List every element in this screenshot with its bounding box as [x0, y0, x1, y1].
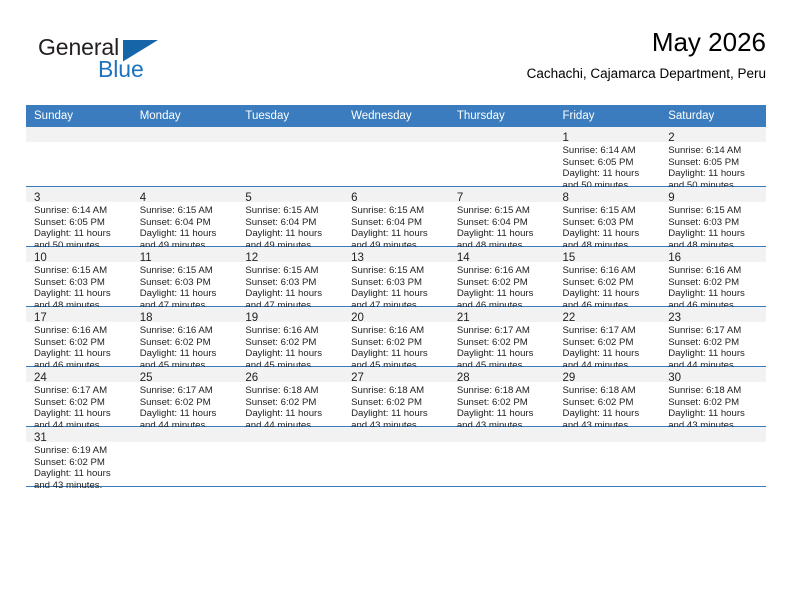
day-number: 24 [34, 372, 47, 384]
calendar-day-cell[interactable]: 12Sunrise: 6:15 AMSunset: 6:03 PMDayligh… [237, 247, 343, 307]
day-number: 3 [34, 192, 40, 204]
day-details: Sunrise: 6:14 AMSunset: 6:05 PMDaylight:… [26, 202, 132, 251]
day-number: 8 [563, 192, 569, 204]
day-number: 17 [34, 312, 47, 324]
calendar-day-cell[interactable]: 9Sunrise: 6:15 AMSunset: 6:03 PMDaylight… [660, 187, 766, 247]
daylight-text: Daylight: 11 hours [563, 168, 657, 180]
day-details: Sunrise: 6:15 AMSunset: 6:03 PMDaylight:… [343, 262, 449, 311]
calendar-empty-cell [449, 127, 555, 187]
sunset-text: Sunset: 6:03 PM [668, 217, 762, 229]
sunset-text: Sunset: 6:04 PM [457, 217, 551, 229]
sunrise-text: Sunrise: 6:14 AM [34, 205, 128, 217]
calendar-day-cell[interactable]: 7Sunrise: 6:15 AMSunset: 6:04 PMDaylight… [449, 187, 555, 247]
day-number-band [26, 127, 132, 142]
calendar-day-cell[interactable]: 25Sunrise: 6:17 AMSunset: 6:02 PMDayligh… [132, 367, 238, 427]
day-cell-inner [449, 427, 555, 486]
daylight-text: Daylight: 11 hours [563, 348, 657, 360]
day-details: Sunrise: 6:17 AMSunset: 6:02 PMDaylight:… [449, 322, 555, 371]
daylight-text: Daylight: 11 hours [351, 348, 445, 360]
weekday-header-sunday: Sunday [26, 105, 132, 127]
day-details: Sunrise: 6:15 AMSunset: 6:03 PMDaylight:… [26, 262, 132, 311]
sunrise-text: Sunrise: 6:17 AM [668, 325, 762, 337]
calendar-day-cell[interactable]: 27Sunrise: 6:18 AMSunset: 6:02 PMDayligh… [343, 367, 449, 427]
page-title: May 2026 [527, 26, 766, 58]
day-number: 31 [34, 432, 47, 444]
day-number: 26 [245, 372, 258, 384]
day-cell-inner: 13Sunrise: 6:15 AMSunset: 6:03 PMDayligh… [343, 247, 449, 306]
day-details: Sunrise: 6:18 AMSunset: 6:02 PMDaylight:… [343, 382, 449, 431]
day-details: Sunrise: 6:17 AMSunset: 6:02 PMDaylight:… [132, 382, 238, 431]
weekday-header-friday: Friday [555, 105, 661, 127]
day-number-band: 28 [449, 367, 555, 382]
day-number: 4 [140, 192, 146, 204]
day-number-band [132, 127, 238, 142]
day-number-band [343, 127, 449, 142]
sunrise-text: Sunrise: 6:18 AM [668, 385, 762, 397]
day-number-band: 31 [26, 427, 132, 442]
weekday-header-thursday: Thursday [449, 105, 555, 127]
day-cell-inner: 7Sunrise: 6:15 AMSunset: 6:04 PMDaylight… [449, 187, 555, 246]
calendar-day-cell[interactable]: 30Sunrise: 6:18 AMSunset: 6:02 PMDayligh… [660, 367, 766, 427]
sunset-text: Sunset: 6:02 PM [668, 337, 762, 349]
day-number-band: 26 [237, 367, 343, 382]
day-details: Sunrise: 6:18 AMSunset: 6:02 PMDaylight:… [660, 382, 766, 431]
sunrise-text: Sunrise: 6:18 AM [245, 385, 339, 397]
day-number-band [449, 127, 555, 142]
sunrise-text: Sunrise: 6:16 AM [351, 325, 445, 337]
day-number-band [449, 427, 555, 442]
calendar-empty-cell [343, 127, 449, 187]
day-number: 2 [668, 132, 674, 144]
sunrise-text: Sunrise: 6:15 AM [668, 205, 762, 217]
sunrise-text: Sunrise: 6:17 AM [140, 385, 234, 397]
sunrise-text: Sunrise: 6:15 AM [245, 265, 339, 277]
sunrise-text: Sunrise: 6:16 AM [563, 265, 657, 277]
day-details: Sunrise: 6:16 AMSunset: 6:02 PMDaylight:… [449, 262, 555, 311]
day-cell-inner [660, 427, 766, 486]
day-number-band: 18 [132, 307, 238, 322]
weekday-header-row: Sunday Monday Tuesday Wednesday Thursday… [26, 105, 766, 127]
title-block: May 2026 Cachachi, Cajamarca Department,… [527, 26, 766, 84]
day-number-band: 1 [555, 127, 661, 142]
day-number-band: 25 [132, 367, 238, 382]
sunset-text: Sunset: 6:02 PM [140, 337, 234, 349]
day-cell-inner: 15Sunrise: 6:16 AMSunset: 6:02 PMDayligh… [555, 247, 661, 306]
sunrise-text: Sunrise: 6:15 AM [457, 205, 551, 217]
day-number-band [237, 127, 343, 142]
day-details: Sunrise: 6:15 AMSunset: 6:03 PMDaylight:… [237, 262, 343, 311]
calendar-day-cell[interactable]: 4Sunrise: 6:15 AMSunset: 6:04 PMDaylight… [132, 187, 238, 247]
day-details: Sunrise: 6:17 AMSunset: 6:02 PMDaylight:… [660, 322, 766, 371]
day-number: 1 [563, 132, 569, 144]
day-cell-inner [343, 127, 449, 186]
calendar-day-cell[interactable]: 28Sunrise: 6:18 AMSunset: 6:02 PMDayligh… [449, 367, 555, 427]
day-number: 23 [668, 312, 681, 324]
sunset-text: Sunset: 6:03 PM [245, 277, 339, 289]
daylight-text: Daylight: 11 hours [457, 408, 551, 420]
calendar-empty-cell [449, 427, 555, 487]
day-cell-inner [343, 427, 449, 486]
calendar-week-row: 17Sunrise: 6:16 AMSunset: 6:02 PMDayligh… [26, 307, 766, 367]
daylight-text: Daylight: 11 hours [668, 168, 762, 180]
day-details: Sunrise: 6:17 AMSunset: 6:02 PMDaylight:… [555, 322, 661, 371]
day-cell-inner: 6Sunrise: 6:15 AMSunset: 6:04 PMDaylight… [343, 187, 449, 246]
sunrise-text: Sunrise: 6:18 AM [351, 385, 445, 397]
day-cell-inner: 20Sunrise: 6:16 AMSunset: 6:02 PMDayligh… [343, 307, 449, 366]
calendar-week-row: 24Sunrise: 6:17 AMSunset: 6:02 PMDayligh… [26, 367, 766, 427]
calendar-day-cell[interactable]: 18Sunrise: 6:16 AMSunset: 6:02 PMDayligh… [132, 307, 238, 367]
calendar-empty-cell [26, 127, 132, 187]
day-number-band: 9 [660, 187, 766, 202]
sunset-text: Sunset: 6:05 PM [563, 157, 657, 169]
day-cell-inner: 3Sunrise: 6:14 AMSunset: 6:05 PMDaylight… [26, 187, 132, 246]
day-number: 16 [668, 252, 681, 264]
sunrise-text: Sunrise: 6:15 AM [351, 205, 445, 217]
day-number-band: 22 [555, 307, 661, 322]
calendar-day-cell[interactable]: 13Sunrise: 6:15 AMSunset: 6:03 PMDayligh… [343, 247, 449, 307]
daylight-text: Daylight: 11 hours [457, 288, 551, 300]
sunrise-text: Sunrise: 6:15 AM [140, 205, 234, 217]
sunrise-text: Sunrise: 6:16 AM [34, 325, 128, 337]
calendar-day-cell[interactable]: 5Sunrise: 6:15 AMSunset: 6:04 PMDaylight… [237, 187, 343, 247]
day-number-band: 16 [660, 247, 766, 262]
day-cell-inner: 21Sunrise: 6:17 AMSunset: 6:02 PMDayligh… [449, 307, 555, 366]
day-number: 15 [563, 252, 576, 264]
general-blue-logo[interactable]: General Blue [38, 32, 218, 88]
day-number-band: 29 [555, 367, 661, 382]
day-cell-inner [237, 427, 343, 486]
calendar-day-cell[interactable]: 15Sunrise: 6:16 AMSunset: 6:02 PMDayligh… [555, 247, 661, 307]
calendar-day-cell[interactable]: 14Sunrise: 6:16 AMSunset: 6:02 PMDayligh… [449, 247, 555, 307]
sunset-text: Sunset: 6:02 PM [457, 277, 551, 289]
calendar-day-cell[interactable]: 19Sunrise: 6:16 AMSunset: 6:02 PMDayligh… [237, 307, 343, 367]
sunrise-sunset-calendar: Sunday Monday Tuesday Wednesday Thursday… [26, 105, 766, 487]
sunrise-text: Sunrise: 6:17 AM [457, 325, 551, 337]
day-number-band [660, 427, 766, 442]
day-details: Sunrise: 6:15 AMSunset: 6:04 PMDaylight:… [343, 202, 449, 251]
sunset-text: Sunset: 6:03 PM [34, 277, 128, 289]
day-number-band [132, 427, 238, 442]
day-details: Sunrise: 6:16 AMSunset: 6:02 PMDaylight:… [132, 322, 238, 371]
day-cell-inner [26, 127, 132, 186]
day-details: Sunrise: 6:18 AMSunset: 6:02 PMDaylight:… [449, 382, 555, 431]
day-cell-inner: 2Sunrise: 6:14 AMSunset: 6:05 PMDaylight… [660, 127, 766, 186]
day-number-band: 7 [449, 187, 555, 202]
calendar-day-cell[interactable]: 2Sunrise: 6:14 AMSunset: 6:05 PMDaylight… [660, 127, 766, 187]
daylight-text: Daylight: 11 hours [351, 408, 445, 420]
day-number: 28 [457, 372, 470, 384]
day-details: Sunrise: 6:16 AMSunset: 6:02 PMDaylight:… [237, 322, 343, 371]
day-cell-inner: 17Sunrise: 6:16 AMSunset: 6:02 PMDayligh… [26, 307, 132, 366]
day-number-band: 21 [449, 307, 555, 322]
day-number-band: 5 [237, 187, 343, 202]
day-number-band: 2 [660, 127, 766, 142]
sunset-text: Sunset: 6:04 PM [351, 217, 445, 229]
sunrise-text: Sunrise: 6:16 AM [245, 325, 339, 337]
weekday-header-tuesday: Tuesday [237, 105, 343, 127]
day-number-band: 11 [132, 247, 238, 262]
day-number: 25 [140, 372, 153, 384]
sunrise-text: Sunrise: 6:17 AM [34, 385, 128, 397]
day-cell-inner: 31Sunrise: 6:19 AMSunset: 6:02 PMDayligh… [26, 427, 132, 486]
calendar-day-cell[interactable]: 10Sunrise: 6:15 AMSunset: 6:03 PMDayligh… [26, 247, 132, 307]
day-number-band: 4 [132, 187, 238, 202]
calendar-week-row: 1Sunrise: 6:14 AMSunset: 6:05 PMDaylight… [26, 127, 766, 187]
daylight-text: Daylight: 11 hours [563, 228, 657, 240]
day-number-band: 13 [343, 247, 449, 262]
sunrise-text: Sunrise: 6:18 AM [563, 385, 657, 397]
daylight-text: Daylight: 11 hours [34, 228, 128, 240]
sunrise-text: Sunrise: 6:18 AM [457, 385, 551, 397]
day-cell-inner: 28Sunrise: 6:18 AMSunset: 6:02 PMDayligh… [449, 367, 555, 426]
day-cell-inner: 5Sunrise: 6:15 AMSunset: 6:04 PMDaylight… [237, 187, 343, 246]
day-number: 19 [245, 312, 258, 324]
day-cell-inner: 19Sunrise: 6:16 AMSunset: 6:02 PMDayligh… [237, 307, 343, 366]
calendar-day-cell[interactable]: 1Sunrise: 6:14 AMSunset: 6:05 PMDaylight… [555, 127, 661, 187]
day-number: 7 [457, 192, 463, 204]
day-details: Sunrise: 6:15 AMSunset: 6:04 PMDaylight:… [449, 202, 555, 251]
sunrise-text: Sunrise: 6:15 AM [34, 265, 128, 277]
daylight-text: Daylight: 11 hours [563, 288, 657, 300]
sunset-text: Sunset: 6:02 PM [34, 337, 128, 349]
day-number: 13 [351, 252, 364, 264]
daylight-text: Daylight: 11 hours [245, 288, 339, 300]
day-cell-inner: 30Sunrise: 6:18 AMSunset: 6:02 PMDayligh… [660, 367, 766, 426]
day-number-band: 24 [26, 367, 132, 382]
weekday-header-wednesday: Wednesday [343, 105, 449, 127]
calendar-empty-cell [555, 427, 661, 487]
sunset-text: Sunset: 6:02 PM [668, 277, 762, 289]
calendar-day-cell[interactable]: 24Sunrise: 6:17 AMSunset: 6:02 PMDayligh… [26, 367, 132, 427]
calendar-day-cell[interactable]: 11Sunrise: 6:15 AMSunset: 6:03 PMDayligh… [132, 247, 238, 307]
day-number-band: 14 [449, 247, 555, 262]
day-number: 14 [457, 252, 470, 264]
day-number-band: 19 [237, 307, 343, 322]
sunrise-text: Sunrise: 6:19 AM [34, 445, 128, 457]
day-details: Sunrise: 6:18 AMSunset: 6:02 PMDaylight:… [237, 382, 343, 431]
day-number-band: 30 [660, 367, 766, 382]
day-details: Sunrise: 6:15 AMSunset: 6:03 PMDaylight:… [555, 202, 661, 251]
daylight-text: Daylight: 11 hours [351, 288, 445, 300]
day-number-band [555, 427, 661, 442]
day-number-band: 23 [660, 307, 766, 322]
day-cell-inner: 8Sunrise: 6:15 AMSunset: 6:03 PMDaylight… [555, 187, 661, 246]
sunset-text: Sunset: 6:02 PM [457, 397, 551, 409]
day-cell-inner: 14Sunrise: 6:16 AMSunset: 6:02 PMDayligh… [449, 247, 555, 306]
daylight-text: Daylight: 11 hours [245, 228, 339, 240]
day-cell-inner: 24Sunrise: 6:17 AMSunset: 6:02 PMDayligh… [26, 367, 132, 426]
day-cell-inner: 1Sunrise: 6:14 AMSunset: 6:05 PMDaylight… [555, 127, 661, 186]
day-cell-inner: 18Sunrise: 6:16 AMSunset: 6:02 PMDayligh… [132, 307, 238, 366]
calendar-week-row: 31Sunrise: 6:19 AMSunset: 6:02 PMDayligh… [26, 427, 766, 487]
sunset-text: Sunset: 6:02 PM [351, 397, 445, 409]
day-cell-inner: 29Sunrise: 6:18 AMSunset: 6:02 PMDayligh… [555, 367, 661, 426]
day-cell-inner: 25Sunrise: 6:17 AMSunset: 6:02 PMDayligh… [132, 367, 238, 426]
day-number-band: 8 [555, 187, 661, 202]
day-cell-inner [449, 127, 555, 186]
day-details: Sunrise: 6:16 AMSunset: 6:02 PMDaylight:… [555, 262, 661, 311]
sunset-text: Sunset: 6:05 PM [668, 157, 762, 169]
daylight-text: Daylight: 11 hours [140, 408, 234, 420]
day-details: Sunrise: 6:15 AMSunset: 6:04 PMDaylight:… [132, 202, 238, 251]
daylight-text: Daylight: 11 hours [245, 408, 339, 420]
calendar-day-cell[interactable]: 21Sunrise: 6:17 AMSunset: 6:02 PMDayligh… [449, 307, 555, 367]
day-details: Sunrise: 6:15 AMSunset: 6:03 PMDaylight:… [132, 262, 238, 311]
calendar-week-row: 10Sunrise: 6:15 AMSunset: 6:03 PMDayligh… [26, 247, 766, 307]
day-number: 9 [668, 192, 674, 204]
day-details: Sunrise: 6:16 AMSunset: 6:02 PMDaylight:… [660, 262, 766, 311]
daylight-text: Daylight: 11 hours [457, 348, 551, 360]
calendar-page: General Blue May 2026 Cachachi, Cajamarc… [0, 0, 792, 612]
day-number-band: 20 [343, 307, 449, 322]
daylight-text: Daylight: 11 hours [140, 288, 234, 300]
day-number-band: 27 [343, 367, 449, 382]
daylight-text: Daylight: 11 hours [34, 468, 128, 480]
calendar-day-cell[interactable]: 29Sunrise: 6:18 AMSunset: 6:02 PMDayligh… [555, 367, 661, 427]
day-number: 12 [245, 252, 258, 264]
sunset-text: Sunset: 6:02 PM [457, 337, 551, 349]
sunset-text: Sunset: 6:05 PM [34, 217, 128, 229]
day-number: 18 [140, 312, 153, 324]
day-cell-inner: 23Sunrise: 6:17 AMSunset: 6:02 PMDayligh… [660, 307, 766, 366]
calendar-body: 1Sunrise: 6:14 AMSunset: 6:05 PMDaylight… [26, 127, 766, 487]
day-cell-inner: 9Sunrise: 6:15 AMSunset: 6:03 PMDaylight… [660, 187, 766, 246]
sunset-text: Sunset: 6:02 PM [351, 337, 445, 349]
day-details: Sunrise: 6:14 AMSunset: 6:05 PMDaylight:… [660, 142, 766, 191]
day-number: 29 [563, 372, 576, 384]
day-number: 20 [351, 312, 364, 324]
day-number-band: 10 [26, 247, 132, 262]
day-number: 22 [563, 312, 576, 324]
calendar-empty-cell [132, 127, 238, 187]
daylight-text: and 43 minutes. [34, 480, 128, 492]
sunrise-text: Sunrise: 6:15 AM [351, 265, 445, 277]
sunset-text: Sunset: 6:02 PM [563, 397, 657, 409]
daylight-text: Daylight: 11 hours [351, 228, 445, 240]
day-cell-inner: 16Sunrise: 6:16 AMSunset: 6:02 PMDayligh… [660, 247, 766, 306]
calendar-day-cell[interactable]: 6Sunrise: 6:15 AMSunset: 6:04 PMDaylight… [343, 187, 449, 247]
calendar-empty-cell [660, 427, 766, 487]
day-number: 21 [457, 312, 470, 324]
sunset-text: Sunset: 6:03 PM [351, 277, 445, 289]
daylight-text: Daylight: 11 hours [140, 228, 234, 240]
day-details: Sunrise: 6:16 AMSunset: 6:02 PMDaylight:… [343, 322, 449, 371]
sunrise-text: Sunrise: 6:17 AM [563, 325, 657, 337]
daylight-text: Daylight: 11 hours [140, 348, 234, 360]
daylight-text: Daylight: 11 hours [563, 408, 657, 420]
daylight-text: Daylight: 11 hours [668, 348, 762, 360]
sunrise-text: Sunrise: 6:15 AM [245, 205, 339, 217]
calendar-day-cell[interactable]: 16Sunrise: 6:16 AMSunset: 6:02 PMDayligh… [660, 247, 766, 307]
day-number-band [237, 427, 343, 442]
sunset-text: Sunset: 6:02 PM [668, 397, 762, 409]
weekday-header-monday: Monday [132, 105, 238, 127]
day-details: Sunrise: 6:17 AMSunset: 6:02 PMDaylight:… [26, 382, 132, 431]
day-number-band [343, 427, 449, 442]
calendar-week-row: 3Sunrise: 6:14 AMSunset: 6:05 PMDaylight… [26, 187, 766, 247]
logo-text-blue: Blue [98, 56, 144, 82]
calendar-empty-cell [237, 427, 343, 487]
sunrise-text: Sunrise: 6:15 AM [563, 205, 657, 217]
sunrise-text: Sunrise: 6:16 AM [140, 325, 234, 337]
day-details: Sunrise: 6:15 AMSunset: 6:04 PMDaylight:… [237, 202, 343, 251]
day-details: Sunrise: 6:16 AMSunset: 6:02 PMDaylight:… [26, 322, 132, 371]
daylight-text: Daylight: 11 hours [245, 348, 339, 360]
daylight-text: Daylight: 11 hours [457, 228, 551, 240]
day-number-band: 6 [343, 187, 449, 202]
sunrise-text: Sunrise: 6:15 AM [140, 265, 234, 277]
day-cell-inner: 27Sunrise: 6:18 AMSunset: 6:02 PMDayligh… [343, 367, 449, 426]
day-cell-inner: 10Sunrise: 6:15 AMSunset: 6:03 PMDayligh… [26, 247, 132, 306]
sunset-text: Sunset: 6:04 PM [140, 217, 234, 229]
daylight-text: Daylight: 11 hours [668, 408, 762, 420]
day-cell-inner [555, 427, 661, 486]
calendar-day-cell[interactable]: 3Sunrise: 6:14 AMSunset: 6:05 PMDaylight… [26, 187, 132, 247]
day-details: Sunrise: 6:19 AMSunset: 6:02 PMDaylight:… [26, 442, 132, 491]
sunset-text: Sunset: 6:04 PM [245, 217, 339, 229]
day-details: Sunrise: 6:15 AMSunset: 6:03 PMDaylight:… [660, 202, 766, 251]
day-cell-inner: 22Sunrise: 6:17 AMSunset: 6:02 PMDayligh… [555, 307, 661, 366]
calendar-empty-cell [132, 427, 238, 487]
calendar-day-cell[interactable]: 17Sunrise: 6:16 AMSunset: 6:02 PMDayligh… [26, 307, 132, 367]
calendar-empty-cell [343, 427, 449, 487]
sunrise-text: Sunrise: 6:16 AM [457, 265, 551, 277]
sunset-text: Sunset: 6:02 PM [563, 337, 657, 349]
day-cell-inner [132, 427, 238, 486]
day-cell-inner [237, 127, 343, 186]
day-details: Sunrise: 6:18 AMSunset: 6:02 PMDaylight:… [555, 382, 661, 431]
weekday-header-saturday: Saturday [660, 105, 766, 127]
daylight-text: Daylight: 11 hours [34, 408, 128, 420]
sunset-text: Sunset: 6:02 PM [34, 397, 128, 409]
sunrise-text: Sunrise: 6:14 AM [668, 145, 762, 157]
day-cell-inner: 26Sunrise: 6:18 AMSunset: 6:02 PMDayligh… [237, 367, 343, 426]
day-number: 11 [140, 252, 152, 264]
day-number: 5 [245, 192, 251, 204]
day-number-band: 15 [555, 247, 661, 262]
day-cell-inner: 4Sunrise: 6:15 AMSunset: 6:04 PMDaylight… [132, 187, 238, 246]
calendar-day-cell[interactable]: 22Sunrise: 6:17 AMSunset: 6:02 PMDayligh… [555, 307, 661, 367]
daylight-text: Daylight: 11 hours [668, 288, 762, 300]
sunset-text: Sunset: 6:02 PM [34, 457, 128, 469]
day-number: 10 [34, 252, 47, 264]
daylight-text: Daylight: 11 hours [34, 348, 128, 360]
sunrise-text: Sunrise: 6:14 AM [563, 145, 657, 157]
day-number-band: 12 [237, 247, 343, 262]
sunset-text: Sunset: 6:02 PM [563, 277, 657, 289]
day-cell-inner: 12Sunrise: 6:15 AMSunset: 6:03 PMDayligh… [237, 247, 343, 306]
calendar-day-cell[interactable]: 26Sunrise: 6:18 AMSunset: 6:02 PMDayligh… [237, 367, 343, 427]
calendar-day-cell[interactable]: 31Sunrise: 6:19 AMSunset: 6:02 PMDayligh… [26, 427, 132, 487]
day-cell-inner [132, 127, 238, 186]
day-number: 27 [351, 372, 364, 384]
calendar-day-cell[interactable]: 8Sunrise: 6:15 AMSunset: 6:03 PMDaylight… [555, 187, 661, 247]
sunset-text: Sunset: 6:02 PM [245, 397, 339, 409]
calendar-empty-cell [237, 127, 343, 187]
day-number: 6 [351, 192, 357, 204]
sunset-text: Sunset: 6:02 PM [140, 397, 234, 409]
calendar-day-cell[interactable]: 23Sunrise: 6:17 AMSunset: 6:02 PMDayligh… [660, 307, 766, 367]
sunset-text: Sunset: 6:03 PM [140, 277, 234, 289]
sunset-text: Sunset: 6:03 PM [563, 217, 657, 229]
daylight-text: Daylight: 11 hours [34, 288, 128, 300]
day-cell-inner: 11Sunrise: 6:15 AMSunset: 6:03 PMDayligh… [132, 247, 238, 306]
daylight-text: Daylight: 11 hours [668, 228, 762, 240]
calendar-day-cell[interactable]: 20Sunrise: 6:16 AMSunset: 6:02 PMDayligh… [343, 307, 449, 367]
sunrise-text: Sunrise: 6:16 AM [668, 265, 762, 277]
location-subtitle: Cachachi, Cajamarca Department, Peru [527, 64, 766, 84]
day-number-band: 3 [26, 187, 132, 202]
